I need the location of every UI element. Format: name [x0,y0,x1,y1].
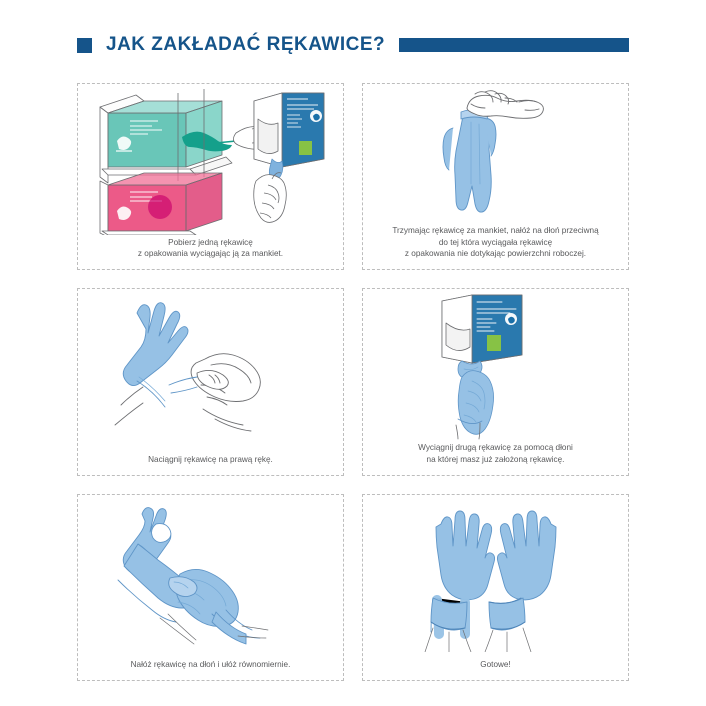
illustration-dispensers [78,84,343,237]
panel-caption: Naciągnij rękawicę na prawą rękę. [78,454,343,475]
page-title: JAK ZAKŁADAĆ RĘKAWICE? [106,34,385,56]
panel-hold-glove-by-cuff: Trzymając rękawicę za mankiet, nałóż na … [362,83,629,270]
panel-caption: Wyciągnij drugą rękawicę za pomocą dłoni… [363,442,628,475]
panel-take-glove-from-dispenser: Pobierz jedną rękawicę z opakowania wyci… [77,83,344,270]
panel-pull-glove-onto-right-hand: Naciągnij rękawicę na prawą rękę. [77,288,344,475]
illustration-second-glove-box [363,289,628,442]
illustration-adjust-gloves [78,495,343,659]
page-header: JAK ZAKŁADAĆ RĘKAWICE? [77,30,629,60]
illustration-pull-glove [78,289,343,453]
panel-take-second-glove: Wyciągnij drugą rękawicę za pomocą dłoni… [362,288,629,475]
header-rule-icon [399,38,629,52]
panel-adjust-glove: Nałóż rękawicę na dłoń i ułóż równomiern… [77,494,344,681]
panel-caption: Nałóż rękawicę na dłoń i ułóż równomiern… [78,659,343,680]
panel-caption: Trzymając rękawicę za mankiet, nałóż na … [363,225,628,270]
illustration-hold-glove [363,84,628,225]
steps-grid: Pobierz jedną rękawicę z opakowania wyci… [77,83,629,681]
panel-done: Gotowe! [362,494,629,681]
panel-caption: Gotowe! [363,659,628,680]
poster-page: JAK ZAKŁADAĆ RĘKAWICE? [0,0,706,706]
illustration-both-gloves-on [363,495,628,659]
panel-caption: Pobierz jedną rękawicę z opakowania wyci… [78,237,343,270]
square-bullet-icon [77,38,92,53]
